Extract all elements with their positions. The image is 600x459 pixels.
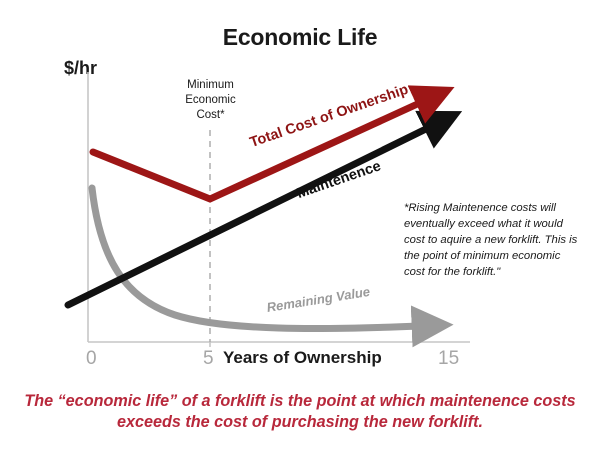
- x-tick-label-15: 15: [438, 348, 459, 370]
- minimum-cost-callout: Minimum Economic Cost*: [163, 78, 258, 124]
- caption: The “economic life” of a forklift is the…: [16, 391, 584, 434]
- callout-line-1: Minimum: [163, 78, 258, 93]
- callout-line-3: Cost*: [163, 108, 258, 123]
- chart-canvas: Economic Life $/hr: [0, 0, 600, 459]
- caption-line-2: exceeds the cost of purchasing the new f…: [16, 412, 584, 433]
- x-tick-label-0: 0: [86, 348, 97, 370]
- footnote-text: *Rising Maintenence costs will eventuall…: [404, 200, 580, 280]
- series-total-cost-of-ownership: [93, 101, 424, 199]
- x-axis-title: Years of Ownership: [223, 348, 382, 368]
- callout-line-2: Economic: [163, 93, 258, 108]
- series-maintenance: [68, 126, 432, 305]
- x-tick-label-5: 5: [203, 348, 214, 370]
- caption-line-1: The “economic life” of a forklift is the…: [16, 391, 584, 412]
